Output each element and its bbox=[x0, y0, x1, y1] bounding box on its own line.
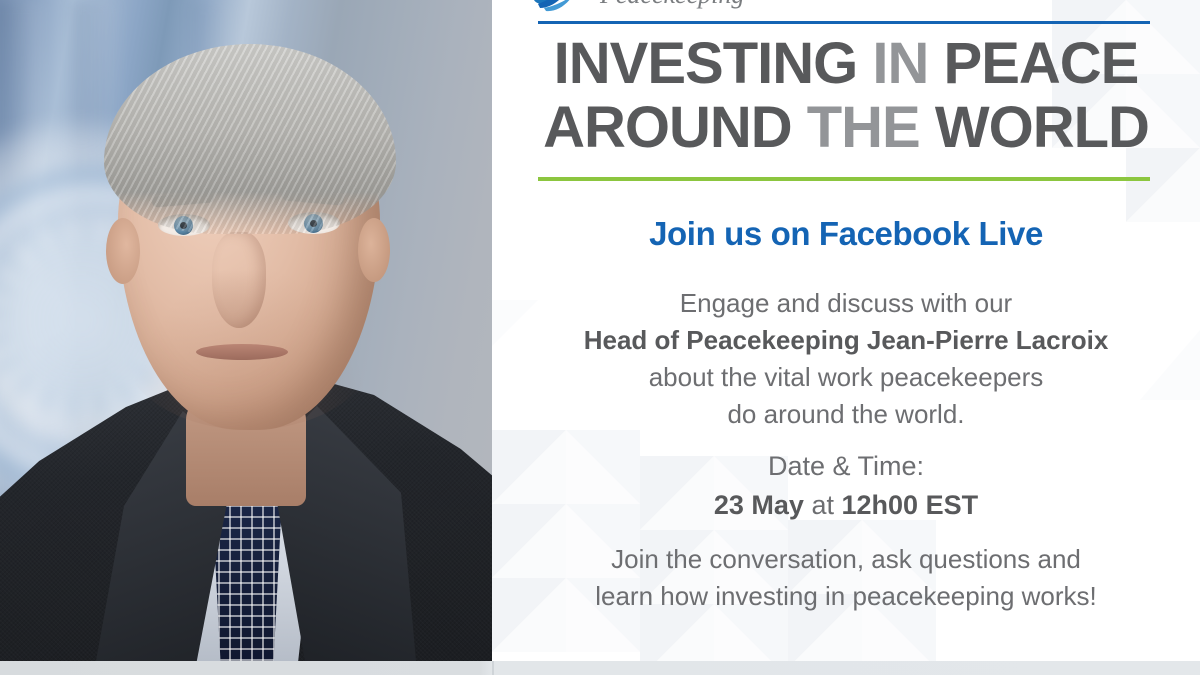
hair bbox=[104, 44, 396, 234]
speaker-name: Head of Peacekeeping Jean-Pierre Lacroix bbox=[492, 322, 1200, 359]
event-date: 23 May bbox=[714, 490, 804, 520]
body-line: about the vital work peacekeepers bbox=[492, 359, 1200, 396]
headline-word: AROUND bbox=[543, 95, 792, 160]
headline-line-2: AROUND THE WORLD bbox=[492, 96, 1200, 160]
subheadline: Join us on Facebook Live bbox=[492, 215, 1200, 253]
body-line: Engage and discuss with our bbox=[492, 285, 1200, 322]
headline-word: WORLD bbox=[935, 95, 1149, 160]
event-time: 12h00 EST bbox=[842, 490, 979, 520]
content-panel: Peacekeeping INVESTING IN PEACE AROUND T… bbox=[492, 0, 1200, 661]
date-time-block: Date & Time: 23 May at 12h00 EST bbox=[492, 447, 1200, 525]
logo-wordmark: Peacekeeping bbox=[600, 0, 744, 10]
portrait-photo bbox=[0, 0, 492, 661]
date-time-connector: at bbox=[811, 490, 834, 520]
divider-green bbox=[538, 177, 1150, 181]
date-time-label: Date & Time: bbox=[492, 447, 1200, 486]
ear-right bbox=[358, 218, 390, 282]
headline-word: IN bbox=[872, 31, 928, 96]
body-line: do around the world. bbox=[492, 396, 1200, 433]
headline-line-1: INVESTING IN PEACE bbox=[492, 32, 1200, 96]
bottom-bar-divider bbox=[492, 661, 494, 675]
headline-word: INVESTING bbox=[554, 31, 858, 96]
un-peacekeeping-dove-logo bbox=[530, 0, 586, 18]
bottom-bar bbox=[0, 661, 1200, 675]
headline-word: THE bbox=[807, 95, 920, 160]
call-to-action: Join the conversation, ask questions and… bbox=[492, 541, 1200, 615]
cta-line: learn how investing in peacekeeping work… bbox=[492, 578, 1200, 615]
date-time-value: 23 May at 12h00 EST bbox=[492, 486, 1200, 525]
nose bbox=[212, 232, 266, 328]
headline-word: PEACE bbox=[944, 31, 1139, 96]
portrait-figure bbox=[0, 0, 492, 661]
poster-canvas: Peacekeeping INVESTING IN PEACE AROUND T… bbox=[0, 0, 1200, 675]
page-title: INVESTING IN PEACE AROUND THE WORLD bbox=[492, 32, 1200, 160]
logo-strip: Peacekeeping bbox=[530, 0, 1170, 18]
body-copy: Engage and discuss with our Head of Peac… bbox=[492, 285, 1200, 433]
mouth bbox=[196, 344, 288, 360]
cta-line: Join the conversation, ask questions and bbox=[492, 541, 1200, 578]
ear-left bbox=[106, 218, 140, 284]
divider-blue bbox=[538, 21, 1150, 24]
